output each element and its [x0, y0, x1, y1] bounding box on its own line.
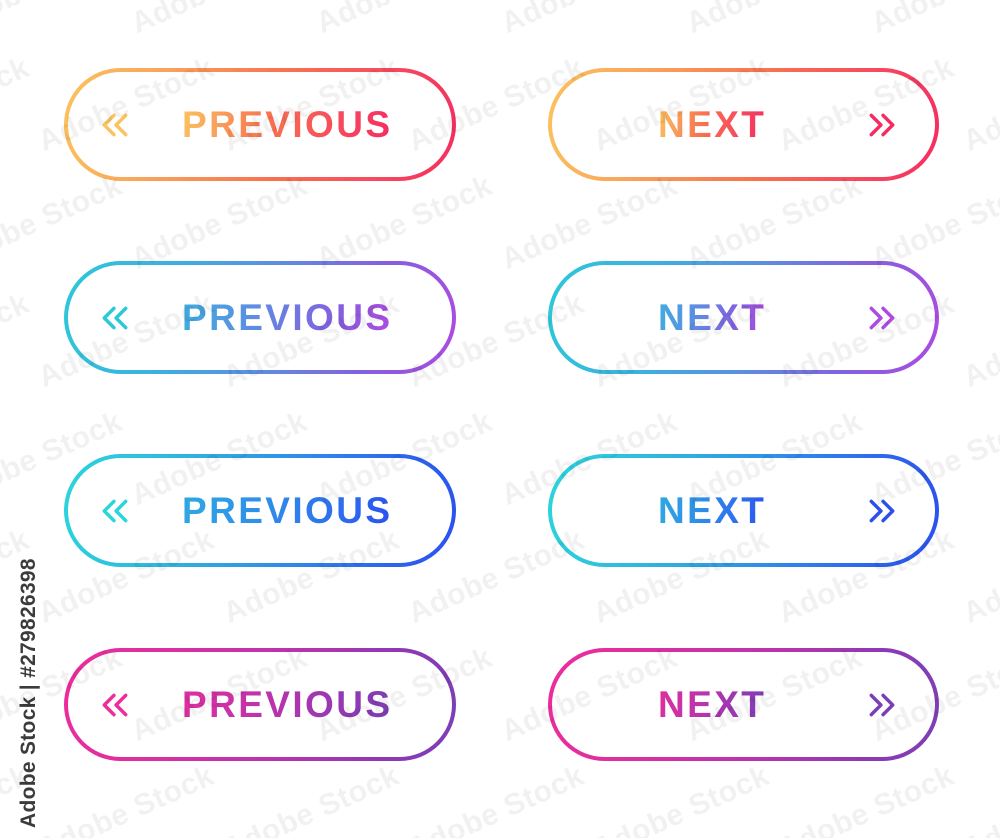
double-chevron-left-icon [100, 494, 130, 528]
button-label: PREVIOUS [182, 492, 392, 529]
double-chevron-left-icon [100, 108, 130, 142]
previous-button[interactable]: PREVIOUS [64, 454, 456, 567]
button-content: NEXT [548, 68, 939, 181]
button-content: PREVIOUS [64, 454, 456, 567]
previous-button[interactable]: PREVIOUS [64, 68, 456, 181]
button-label: NEXT [658, 106, 766, 143]
double-chevron-left-icon [100, 688, 130, 722]
next-button[interactable]: NEXT [548, 68, 939, 181]
stock-id-watermark: Adobe Stock | #279826398 [12, 794, 280, 828]
button-label: NEXT [658, 299, 766, 336]
next-button[interactable]: NEXT [548, 454, 939, 567]
button-content: NEXT [548, 454, 939, 567]
button-content: PREVIOUS [64, 261, 456, 374]
next-button[interactable]: NEXT [548, 648, 939, 761]
double-chevron-left-icon [100, 301, 130, 335]
button-label: PREVIOUS [182, 299, 392, 336]
button-content: NEXT [548, 261, 939, 374]
button-content: PREVIOUS [64, 648, 456, 761]
button-set: PREVIOUSNEXTPREVIOUSNEXTPREVIOUSNEXTPREV… [0, 0, 1000, 838]
button-label: PREVIOUS [182, 686, 392, 723]
artboard: PREVIOUSNEXTPREVIOUSNEXTPREVIOUSNEXTPREV… [0, 0, 1000, 838]
button-content: NEXT [548, 648, 939, 761]
double-chevron-right-icon [867, 494, 897, 528]
button-label: PREVIOUS [182, 106, 392, 143]
previous-button[interactable]: PREVIOUS [64, 261, 456, 374]
button-content: PREVIOUS [64, 68, 456, 181]
next-button[interactable]: NEXT [548, 261, 939, 374]
button-label: NEXT [658, 686, 766, 723]
double-chevron-right-icon [867, 301, 897, 335]
double-chevron-right-icon [867, 108, 897, 142]
previous-button[interactable]: PREVIOUS [64, 648, 456, 761]
button-label: NEXT [658, 492, 766, 529]
double-chevron-right-icon [867, 688, 897, 722]
